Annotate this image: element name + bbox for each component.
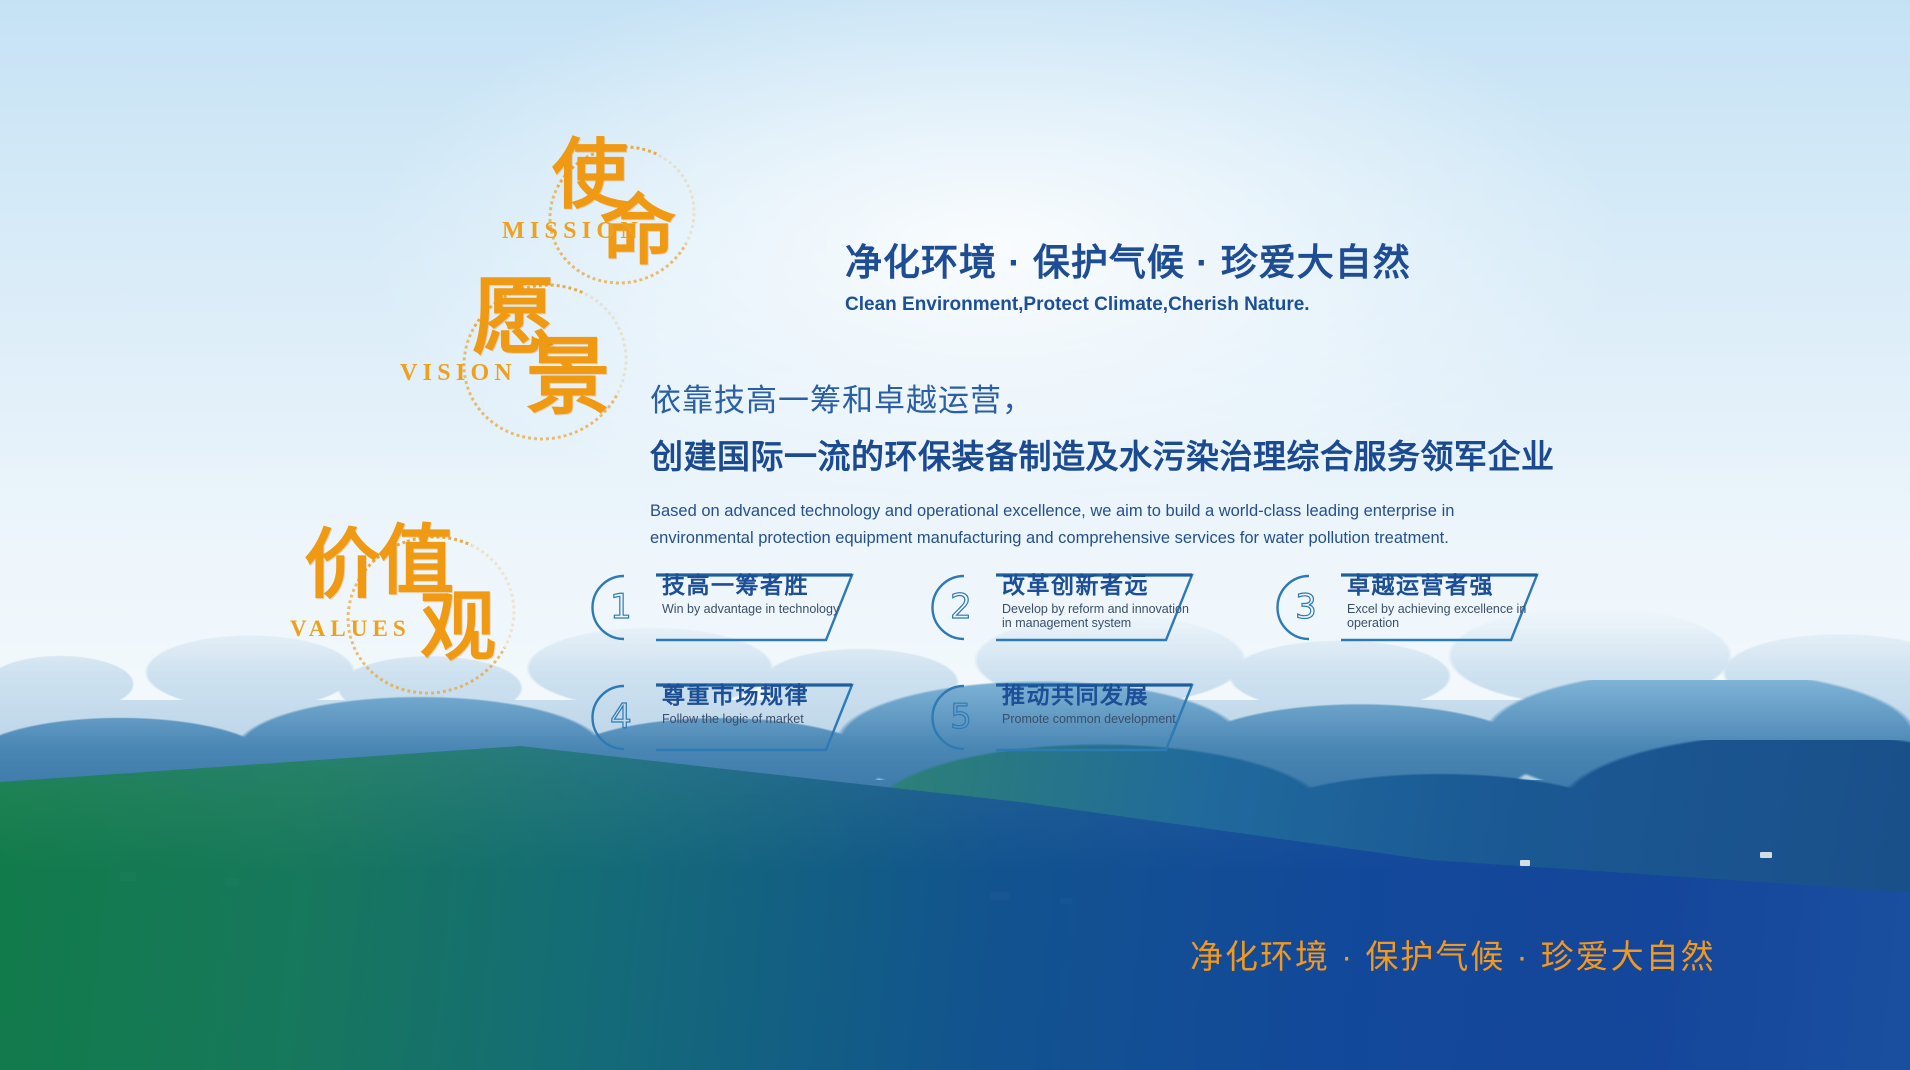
card-title-cn: 推动共同发展 bbox=[1002, 682, 1202, 710]
vision-body-en: Based on advanced technology and operati… bbox=[650, 498, 1530, 551]
values-badge: 价 值 观 VALUES bbox=[290, 570, 530, 720]
card-title-cn: 改革创新者远 bbox=[1002, 572, 1202, 600]
card-number: 3 bbox=[1275, 576, 1337, 638]
mission-badge-label: MISSION bbox=[502, 218, 643, 245]
value-card[interactable]: 5 推动共同发展 Promote common development bbox=[920, 680, 1200, 755]
card-title-en: Excel by achieving excellence in operati… bbox=[1347, 602, 1547, 632]
poster-canvas: 使 命 MISSION 净化环境 · 保护气候 · 珍爱大自然 Clean En… bbox=[0, 0, 1910, 1070]
vision-line-1: 依靠技高一筹和卓越运营， bbox=[650, 375, 1555, 420]
card-title-en: Develop by reform and innovation in mana… bbox=[1002, 602, 1202, 632]
vision-line-2: 创建国际一流的环保装备制造及水污染治理综合服务领军企业 bbox=[650, 430, 1555, 478]
card-number: 4 bbox=[590, 686, 652, 748]
value-card[interactable]: 2 改革创新者远 Develop by reform and innovatio… bbox=[920, 570, 1200, 645]
vision-badge-char-2: 景 bbox=[526, 338, 608, 415]
card-number: 2 bbox=[930, 576, 992, 638]
card-number: 1 bbox=[590, 576, 652, 638]
value-card[interactable]: 4 尊重市场规律 Follow the logic of market bbox=[580, 680, 860, 755]
card-title-cn: 技高一筹者胜 bbox=[662, 572, 862, 600]
vision-badge-label: VISION bbox=[400, 360, 517, 387]
mission-text-block: 净化环境 · 保护气候 · 珍爱大自然 Clean Environment,Pr… bbox=[845, 232, 1411, 316]
values-badge-label: VALUES bbox=[290, 616, 411, 642]
values-badge-char-1: 价 bbox=[304, 530, 378, 600]
card-title-en: Win by advantage in technology bbox=[662, 602, 862, 617]
mission-headline-cn: 净化环境 · 保护气候 · 珍爱大自然 bbox=[845, 232, 1411, 286]
value-card[interactable]: 3 卓越运营者强 Excel by achieving excellence i… bbox=[1265, 570, 1545, 645]
mission-badge: 使 命 MISSION bbox=[500, 140, 720, 280]
vision-text-block: 依靠技高一筹和卓越运营， 创建国际一流的环保装备制造及水污染治理综合服务领军企业… bbox=[650, 375, 1555, 551]
vision-badge: 愿 景 VISION bbox=[400, 330, 630, 480]
card-title-cn: 尊重市场规律 bbox=[662, 682, 862, 710]
card-number: 5 bbox=[930, 686, 992, 748]
card-title-en: Promote common development bbox=[1002, 712, 1202, 727]
values-badge-char-3: 观 bbox=[420, 592, 494, 662]
card-title-cn: 卓越运营者强 bbox=[1347, 572, 1547, 600]
value-card[interactable]: 1 技高一筹者胜 Win by advantage in technology bbox=[580, 570, 860, 645]
footer-slogan: 净化环境 · 保护气候 · 珍爱大自然 bbox=[1190, 930, 1716, 978]
card-title-en: Follow the logic of market bbox=[662, 712, 862, 727]
mission-headline-en: Clean Environment,Protect Climate,Cheris… bbox=[845, 294, 1411, 316]
